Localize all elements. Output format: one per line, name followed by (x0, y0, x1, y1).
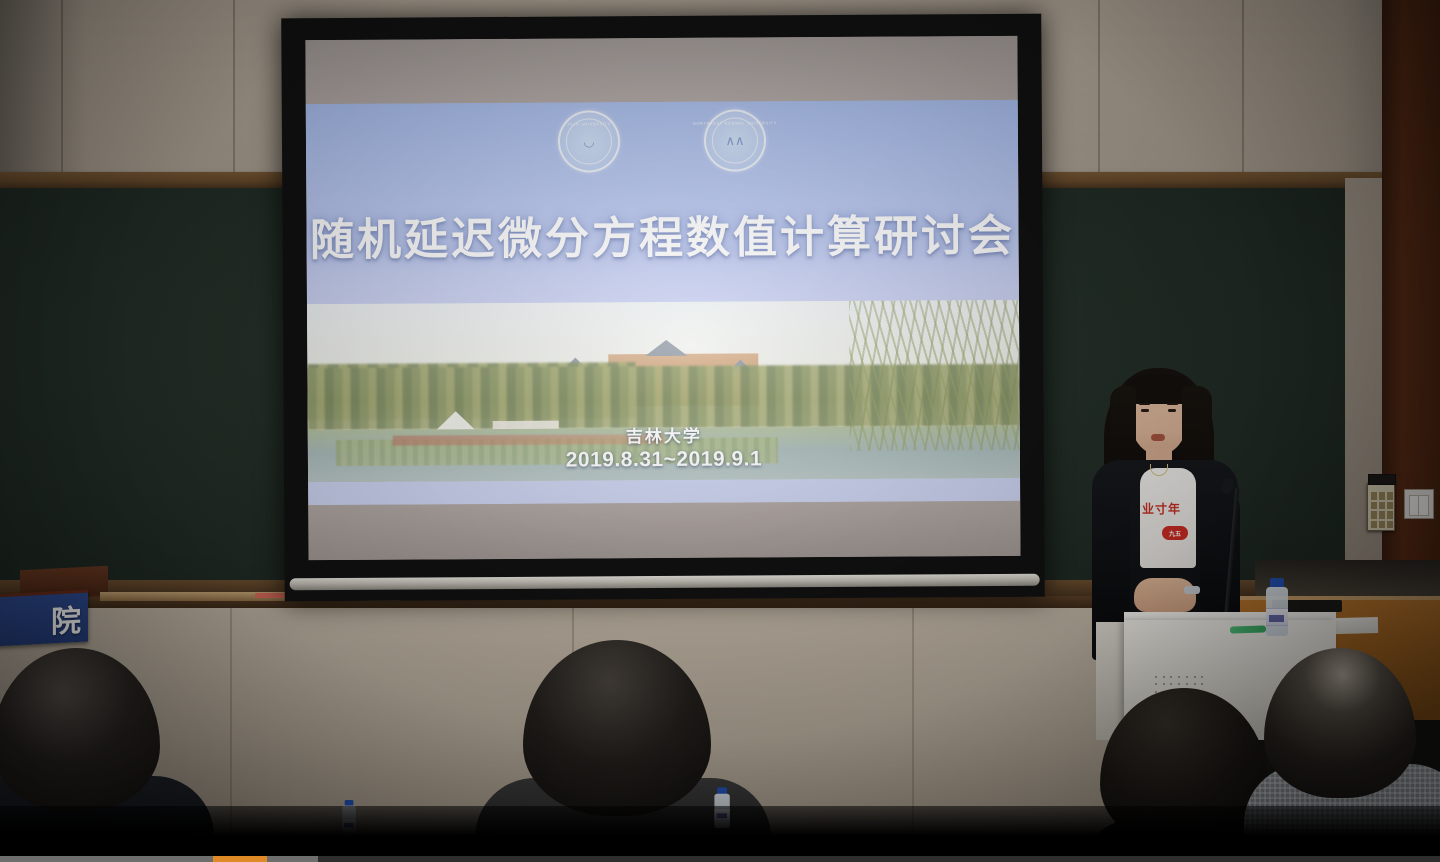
audience-hair-right-man (1264, 648, 1416, 798)
slide-photo-caption: 吉林大学 2019.8.31~2019.9.1 (308, 423, 1020, 474)
screen-blank-top-margin (305, 36, 1017, 104)
wall-keypad-panel[interactable] (1367, 483, 1395, 531)
presenter-mouth (1151, 434, 1165, 441)
keypad-display (1368, 474, 1396, 485)
light-switch-plate[interactable] (1404, 489, 1434, 519)
progress-played (213, 856, 267, 862)
right-wall-strip (1345, 178, 1385, 598)
screen-roller-bar (290, 574, 1040, 591)
seal-right-mark: ∧∧ (725, 134, 744, 147)
green-marker (1230, 625, 1266, 633)
seal-right-ring-text: NORTHEAST NORMAL UNIVERSITY (693, 120, 777, 126)
slide-dates: 2019.8.31~2019.9.1 (308, 445, 1020, 475)
bottle-label (1266, 608, 1288, 626)
presenter-arm-left (1092, 490, 1130, 630)
projection-screen: JILIN UNIVERSITY ◟◞ NORTHEAST NORMAL UNI… (281, 14, 1045, 602)
video-progress-bar[interactable] (0, 856, 1440, 862)
screen-blank-bottom-margin (308, 501, 1020, 560)
seal-left-mark: ◟◞ (584, 135, 594, 148)
keypad-buttons[interactable] (1371, 492, 1393, 528)
slide-campus-photo: 吉林大学 2019.8.31~2019.9.1 (307, 300, 1020, 482)
slide-logos: JILIN UNIVERSITY ◟◞ NORTHEAST NORMAL UNI… (306, 108, 1018, 174)
water-bottle-podium (1264, 578, 1290, 636)
progress-buffered (0, 856, 318, 862)
university-seal-right-icon: NORTHEAST NORMAL UNIVERSITY ∧∧ (704, 109, 766, 171)
audience-hair-center (523, 640, 711, 816)
seal-left-ring-text: JILIN UNIVERSITY (567, 121, 611, 126)
screenshot-root: 院 JILIN UNIVERSITY ◟◞ NORTHEAST NORMAL U… (0, 0, 1440, 862)
university-seal-left-icon: JILIN UNIVERSITY ◟◞ (558, 110, 620, 172)
audience-hair-left (0, 648, 160, 812)
slide-header-band: JILIN UNIVERSITY ◟◞ NORTHEAST NORMAL UNI… (306, 100, 1019, 304)
presenter-wristwatch (1184, 586, 1200, 594)
department-sign: 院 (0, 589, 88, 646)
presenter-eyebrow-left (1139, 403, 1150, 405)
presenter-eye-left (1141, 409, 1149, 412)
projection-screen-surface: JILIN UNIVERSITY ◟◞ NORTHEAST NORMAL UNI… (305, 36, 1020, 560)
department-sign-label: 院 (51, 595, 88, 641)
presenter-tshirt-badge: 九五 (1162, 526, 1188, 540)
presenter-hands (1134, 578, 1196, 612)
presenter-eye-right (1168, 409, 1176, 412)
presenter-eyebrow-right (1167, 403, 1178, 405)
foreground-shadow (0, 806, 1440, 856)
presentation-slide: JILIN UNIVERSITY ◟◞ NORTHEAST NORMAL UNI… (306, 100, 1020, 505)
slide-title: 随机延迟微分方程数值计算研讨会 (306, 200, 1018, 268)
